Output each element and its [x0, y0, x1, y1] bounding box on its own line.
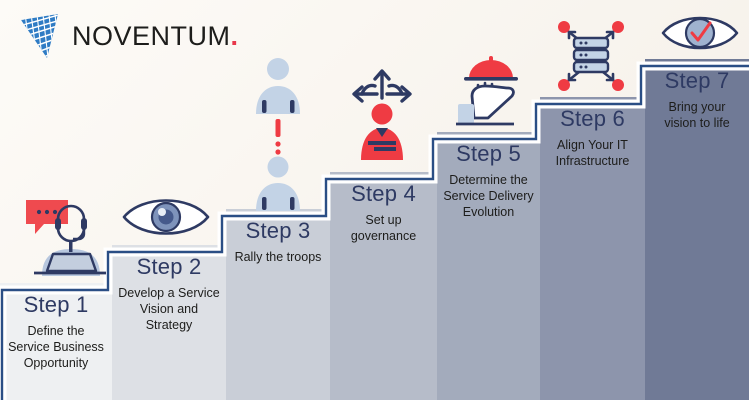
step-title: Step 4 — [336, 182, 431, 207]
brand-logo: NOVENTUM. — [18, 12, 239, 60]
step-text-7: Step 7 Bring your vision to life — [645, 59, 749, 131]
step-title: Step 6 — [546, 107, 639, 132]
step-text-2: Step 2 Develop a Service Vision and Stra… — [112, 245, 226, 333]
eye-icon — [120, 192, 212, 242]
infographic-canvas: NOVENTUM. Step 1 Define the Service Busi… — [0, 0, 749, 400]
step-text-5: Step 5 Determine the Service Delivery Ev… — [437, 132, 540, 220]
step-title: Step 7 — [651, 69, 743, 94]
brand-name: NOVENTUM — [72, 21, 231, 51]
eye-checkmark-icon — [660, 10, 740, 56]
hand-serving-tray-icon — [456, 52, 538, 134]
step-block-2[interactable]: Step 2 Develop a Service Vision and Stra… — [112, 245, 226, 400]
noventum-fan-logo-icon — [18, 12, 64, 60]
step-text-1: Step 1 Define the Service Business Oppor… — [0, 283, 112, 371]
step-title: Step 5 — [443, 142, 534, 167]
step-title: Step 1 — [6, 293, 106, 318]
step-block-4[interactable]: Step 4 Set up governance — [330, 172, 437, 400]
step-block-3[interactable]: Step 3 Rally the troops — [226, 209, 330, 400]
step-desc: Align Your IT Infrastructure — [546, 137, 639, 169]
step-block-5[interactable]: Step 5 Determine the Service Delivery Ev… — [437, 132, 540, 400]
step-desc: Set up governance — [336, 212, 431, 244]
step-title: Step 2 — [118, 255, 220, 280]
brand-dot: . — [231, 21, 239, 51]
step-desc: Rally the troops — [232, 249, 324, 265]
step-text-4: Step 4 Set up governance — [330, 172, 437, 244]
step-desc: Determine the Service Delivery Evolution — [443, 172, 534, 220]
server-network-icon — [548, 12, 634, 94]
two-people-connected-icon — [243, 56, 313, 188]
step-desc: Bring your vision to life — [651, 99, 743, 131]
step-text-3: Step 3 Rally the troops — [226, 209, 330, 265]
support-agent-laptop-icon — [20, 192, 106, 278]
step-block-1[interactable]: Step 1 Define the Service Business Oppor… — [0, 283, 112, 400]
step-text-6: Step 6 Align Your IT Infrastructure — [540, 97, 645, 169]
step-title: Step 3 — [232, 219, 324, 244]
step-desc: Develop a Service Vision and Strategy — [118, 285, 220, 333]
person-direction-arrows-icon — [345, 62, 419, 160]
brand-wordmark: NOVENTUM. — [72, 23, 239, 50]
step-block-7[interactable]: Step 7 Bring your vision to life — [645, 59, 749, 400]
step-desc: Define the Service Business Opportunity — [6, 323, 106, 371]
step-block-6[interactable]: Step 6 Align Your IT Infrastructure — [540, 97, 645, 400]
